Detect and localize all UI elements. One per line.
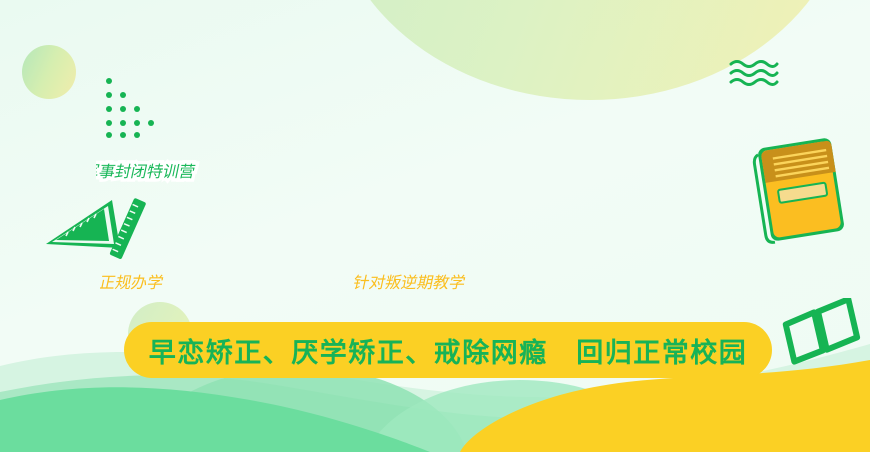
open-book-icon — [782, 298, 866, 370]
gradient-circle-small — [22, 45, 76, 99]
page-title: 军事封闭特训营 — [96, 111, 786, 195]
pill-text: 早恋矫正、厌学矫正、戒除网瘾 回归正常校园 — [124, 322, 772, 378]
promo-banner: 军事封闭特训营 正规办学 针对叛逆期教学 早恋矫正、厌学矫正、戒除网瘾 回归正常… — [0, 0, 870, 452]
subtitle-right: 针对叛逆期教学 — [351, 274, 467, 292]
headline-text: 军事封闭特训营 — [96, 163, 197, 181]
subtitle: 正规办学 针对叛逆期教学 — [100, 242, 800, 300]
subtitle-left: 正规办学 — [100, 274, 165, 292]
wavy-lines-icon — [728, 58, 780, 88]
